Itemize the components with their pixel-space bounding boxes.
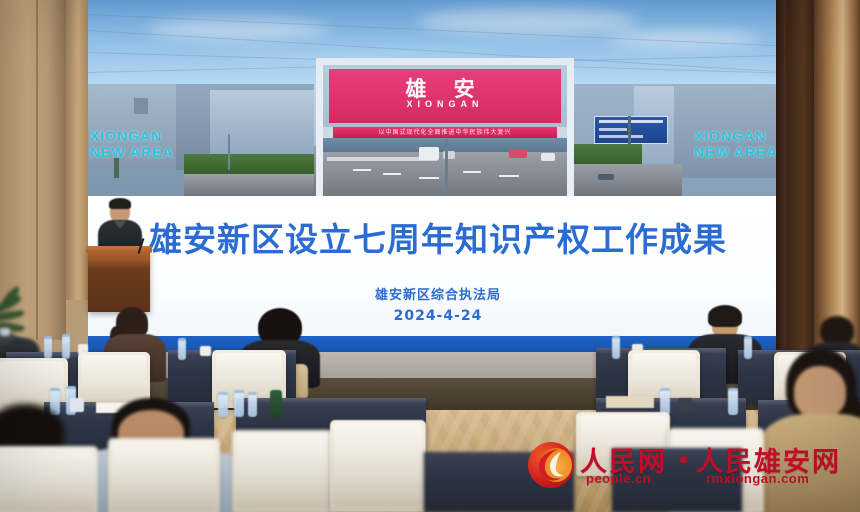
water-bottle (178, 338, 186, 360)
cup (678, 398, 692, 411)
thermos (270, 390, 282, 418)
water-bottle (744, 336, 752, 359)
phone (0, 328, 10, 336)
right-column-edge (776, 0, 786, 360)
water-bottle (62, 334, 70, 359)
peoplecn-logo-icon (528, 442, 574, 488)
chair (232, 430, 336, 512)
gantry-red-banner: 以中国式现代化全面推进中华民族伟大复兴 (333, 127, 557, 138)
chair (330, 420, 426, 512)
slide-photo-band: XIONGAN NEW AREA XIONGAN NEW AREA (88, 84, 788, 196)
right-wall-column (814, 0, 860, 360)
slide-left-building-text-line2: NEW AREA (90, 144, 174, 160)
gantry-english-text: XIONGAN (329, 99, 561, 109)
projection-screen: XIONGAN NEW AREA XIONGAN NEW AREA (88, 0, 788, 352)
highway-sign (594, 116, 668, 144)
slide-left-building-text-line1: XIONGAN (90, 128, 162, 144)
slide-title: 雄安新区设立七周年知识产权工作成果 (88, 213, 788, 261)
watermark-separator-dot (680, 456, 687, 463)
slide-photo-right: XIONGAN NEW AREA (572, 84, 788, 196)
slide-date: 2024-4-24 (88, 308, 788, 324)
watermark-url-2: rmxiongan.com (706, 471, 809, 486)
left-wall-panel (0, 0, 66, 340)
water-bottle (728, 388, 738, 415)
wall-seam (36, 0, 38, 340)
water-bottle (44, 336, 52, 359)
logo-swoosh-icon (528, 442, 574, 488)
water-bottle (660, 388, 670, 415)
podium (88, 250, 150, 312)
xiongan-gantry-sign: 雄 安 XIONGAN (329, 69, 561, 123)
chair (108, 438, 220, 512)
podium-top-surface (86, 246, 152, 253)
speaker-hair (109, 198, 131, 209)
slide-text-area: 雄安新区设立七周年知识产权工作成果 雄安新区综合执法局 2024-4-24 (88, 196, 788, 336)
water-bottle (612, 336, 620, 359)
left-wall-panel-secondary (66, 0, 88, 300)
watermark-url-1: people.cn (586, 471, 651, 486)
cup (200, 346, 211, 356)
right-column-dark-face (786, 0, 814, 360)
vehicle (509, 149, 527, 158)
slide-right-building-text-line2: NEW AREA (694, 144, 778, 160)
hair (820, 316, 854, 344)
hair (708, 305, 742, 327)
vehicle (419, 147, 439, 160)
document (606, 396, 654, 408)
gantry-banner-text: 以中国式现代化全面推进中华民族伟大复兴 (333, 127, 557, 138)
slide-photo-left: XIONGAN NEW AREA (88, 84, 314, 196)
slide-photo-center-framed: 雄 安 XIONGAN 以中国式现代化全面推进中华民族伟大复兴 (316, 58, 574, 206)
chair (0, 446, 98, 512)
watermark-logo: 人民网 人民雄安网 people.cn rmxiongan.com (528, 438, 848, 496)
photograph-scene: XIONGAN NEW AREA XIONGAN NEW AREA (0, 0, 860, 512)
slide-subtitle: 雄安新区综合执法局 (88, 284, 788, 303)
slide-right-building-text-line1: XIONGAN (694, 128, 766, 144)
vehicle (541, 153, 555, 161)
